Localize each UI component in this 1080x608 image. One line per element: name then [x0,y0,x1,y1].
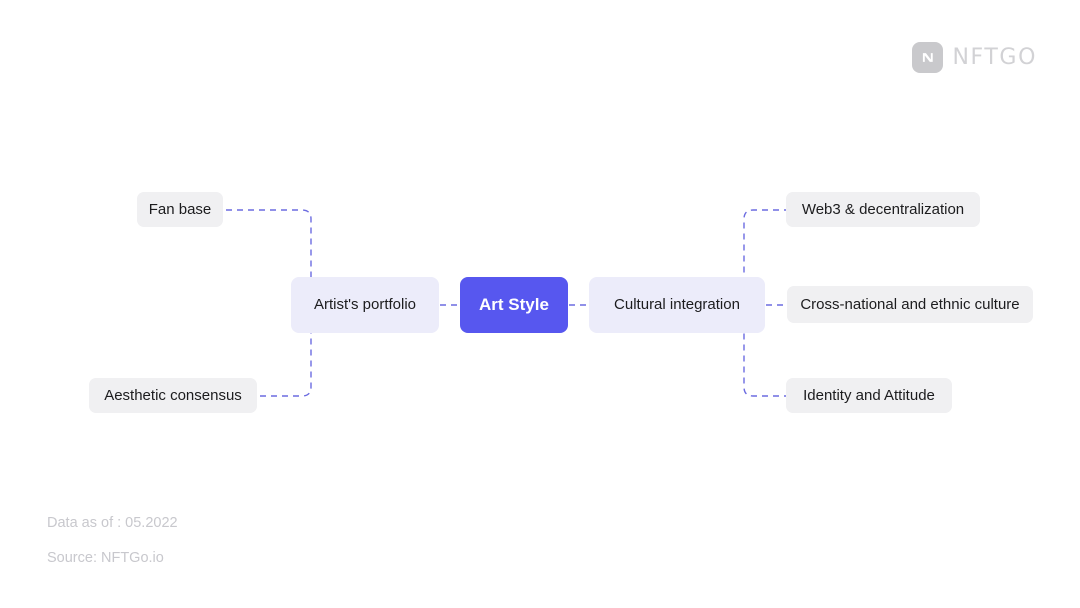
node-cultural-integration[interactable]: Cultural integration [589,277,765,333]
edge-fanbase [226,210,311,278]
node-label: Fan base [149,201,212,219]
nftgo-logo: NFTGO [912,42,1037,73]
node-label: Aesthetic consensus [104,387,242,405]
node-label: Cultural integration [614,296,740,314]
node-artists-portfolio[interactable]: Artist's portfolio [291,277,439,333]
node-label: Cross-national and ethnic culture [800,296,1019,314]
node-label: Art Style [479,295,549,315]
footer-data-as-of: Data as of : 05.2022 [47,516,178,531]
mindmap-canvas: Fan base Aesthetic consensus Artist's po… [0,0,1080,608]
edge-aesthetic [260,332,311,396]
edge-web3 [744,210,790,278]
node-label: Identity and Attitude [803,387,935,405]
footer: Data as of : 05.2022 Source: NFTGo.io [47,516,178,585]
edge-identity [744,332,790,396]
node-web3-decentralization[interactable]: Web3 & decentralization [786,192,980,227]
node-cross-national-culture[interactable]: Cross-national and ethnic culture [787,286,1033,323]
node-aesthetic-consensus[interactable]: Aesthetic consensus [89,378,257,413]
node-fan-base[interactable]: Fan base [137,192,223,227]
node-identity-attitude[interactable]: Identity and Attitude [786,378,952,413]
node-label: Web3 & decentralization [802,201,964,219]
nftgo-logo-icon [912,42,943,73]
node-art-style-root[interactable]: Art Style [460,277,568,333]
footer-source: Source: NFTGo.io [47,551,178,566]
nftgo-wordmark: NFTGO [952,45,1037,70]
node-label: Artist's portfolio [314,296,416,314]
